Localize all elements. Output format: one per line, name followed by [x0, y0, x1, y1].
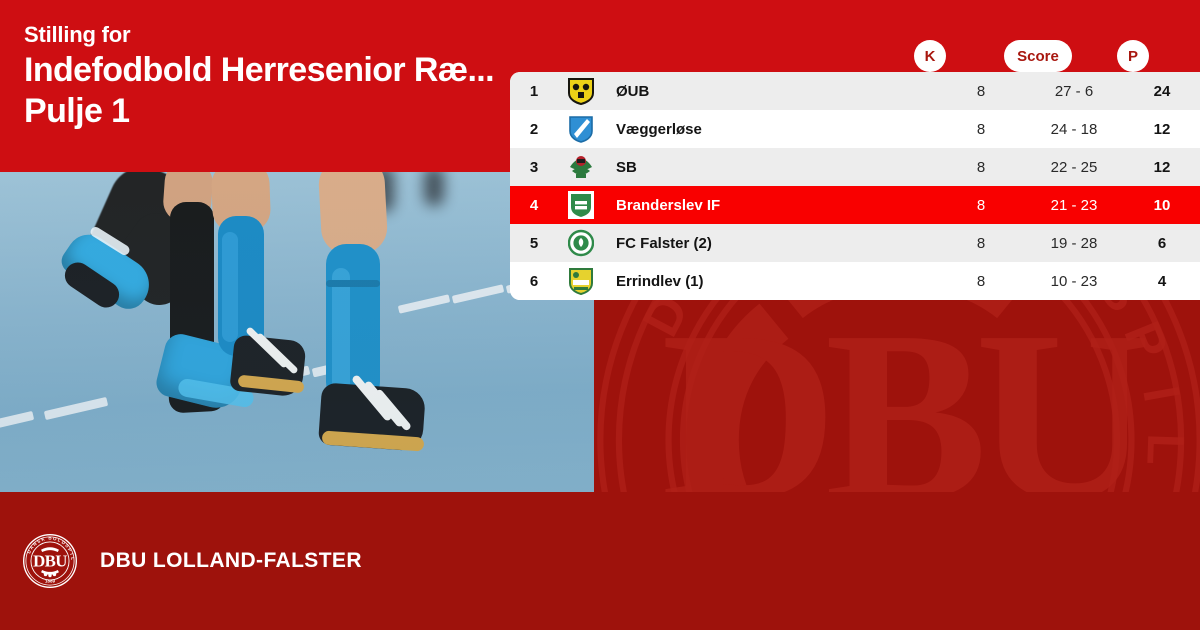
- team-crest-cell: [558, 153, 604, 181]
- points: 4: [1124, 273, 1200, 290]
- svg-text:DBU: DBU: [33, 552, 67, 571]
- points: 12: [1124, 121, 1200, 138]
- matches-played: 8: [938, 121, 1024, 138]
- team-name: Væggerløse: [604, 121, 938, 138]
- matches-played: 8: [938, 83, 1024, 100]
- team-crest-cell: [558, 267, 604, 295]
- goal-score: 27 - 6: [1024, 83, 1124, 100]
- column-header-k: K: [914, 40, 946, 72]
- team-crest-cell: [558, 229, 604, 257]
- futsal-players-photo: [0, 172, 594, 492]
- team-name: Branderslev IF: [604, 197, 938, 214]
- table-row[interactable]: 2 Væggerløse 8 24 - 18 12: [510, 110, 1200, 148]
- goal-score: 19 - 28: [1024, 235, 1124, 252]
- goal-score: 21 - 23: [1024, 197, 1124, 214]
- table-row[interactable]: 5 FC Falster (2) 8 19 - 28 6: [510, 224, 1200, 262]
- standings-table: 1 ØUB 8 27 - 6 24 2 Væg: [510, 72, 1200, 300]
- svg-text:L: L: [1136, 432, 1195, 466]
- points: 12: [1124, 159, 1200, 176]
- crest-errindlev-icon: [568, 267, 594, 295]
- team-name: FC Falster (2): [604, 235, 938, 252]
- row-position: 1: [510, 83, 558, 100]
- row-position: 6: [510, 273, 558, 290]
- team-crest-cell: [558, 77, 604, 105]
- row-position: 2: [510, 121, 558, 138]
- crest-sb-icon: [568, 153, 594, 181]
- matches-played: 8: [938, 159, 1024, 176]
- footer-bar: DBU D A N S K B O L D S P I L 1889: [0, 492, 1200, 630]
- svg-text:I: I: [1132, 382, 1192, 406]
- dbu-crest-icon: DBU D A N S K B O L D S P I L 1889: [22, 533, 78, 589]
- standings-graphic: DBU D A N S K B O L D S P I L: [0, 0, 1200, 630]
- points: 6: [1124, 235, 1200, 252]
- table-row[interactable]: 6 Errindlev (1) 8 10 - 23 4: [510, 262, 1200, 300]
- goal-score: 24 - 18: [1024, 121, 1124, 138]
- points: 24: [1124, 83, 1200, 100]
- team-name: Errindlev (1): [604, 273, 938, 290]
- goal-score: 22 - 25: [1024, 159, 1124, 176]
- crest-branderslev-icon: [568, 191, 594, 219]
- crest-oub-icon: [568, 77, 594, 105]
- svg-text:1889: 1889: [45, 578, 55, 583]
- table-row[interactable]: 3 SB 8 22 - 25 12: [510, 148, 1200, 186]
- column-header-pills: K Score P: [0, 40, 1200, 72]
- row-position: 5: [510, 235, 558, 252]
- row-position: 4: [510, 197, 558, 214]
- svg-text:L: L: [70, 557, 75, 561]
- svg-text:B: B: [48, 536, 52, 541]
- svg-text:O: O: [53, 536, 58, 542]
- team-name: ØUB: [604, 83, 938, 100]
- column-header-score: Score: [1004, 40, 1072, 72]
- team-crest-cell: [558, 115, 604, 143]
- matches-played: 8: [938, 273, 1024, 290]
- table-row[interactable]: 1 ØUB 8 27 - 6 24: [510, 72, 1200, 110]
- table-row-highlighted[interactable]: 4 Branderslev IF 8 21 - 23 10: [510, 186, 1200, 224]
- matches-played: 8: [938, 235, 1024, 252]
- points: 10: [1124, 197, 1200, 214]
- column-header-p: P: [1117, 40, 1149, 72]
- svg-text:P: P: [1113, 314, 1180, 368]
- goal-score: 10 - 23: [1024, 273, 1124, 290]
- team-name: SB: [604, 159, 938, 176]
- footer-label: DBU LOLLAND-FALSTER: [100, 549, 362, 573]
- team-crest-cell: [558, 191, 604, 219]
- matches-played: 8: [938, 197, 1024, 214]
- crest-fcfalster-icon: [568, 229, 594, 257]
- crest-vaeggerlose-icon: [568, 115, 594, 143]
- row-position: 3: [510, 159, 558, 176]
